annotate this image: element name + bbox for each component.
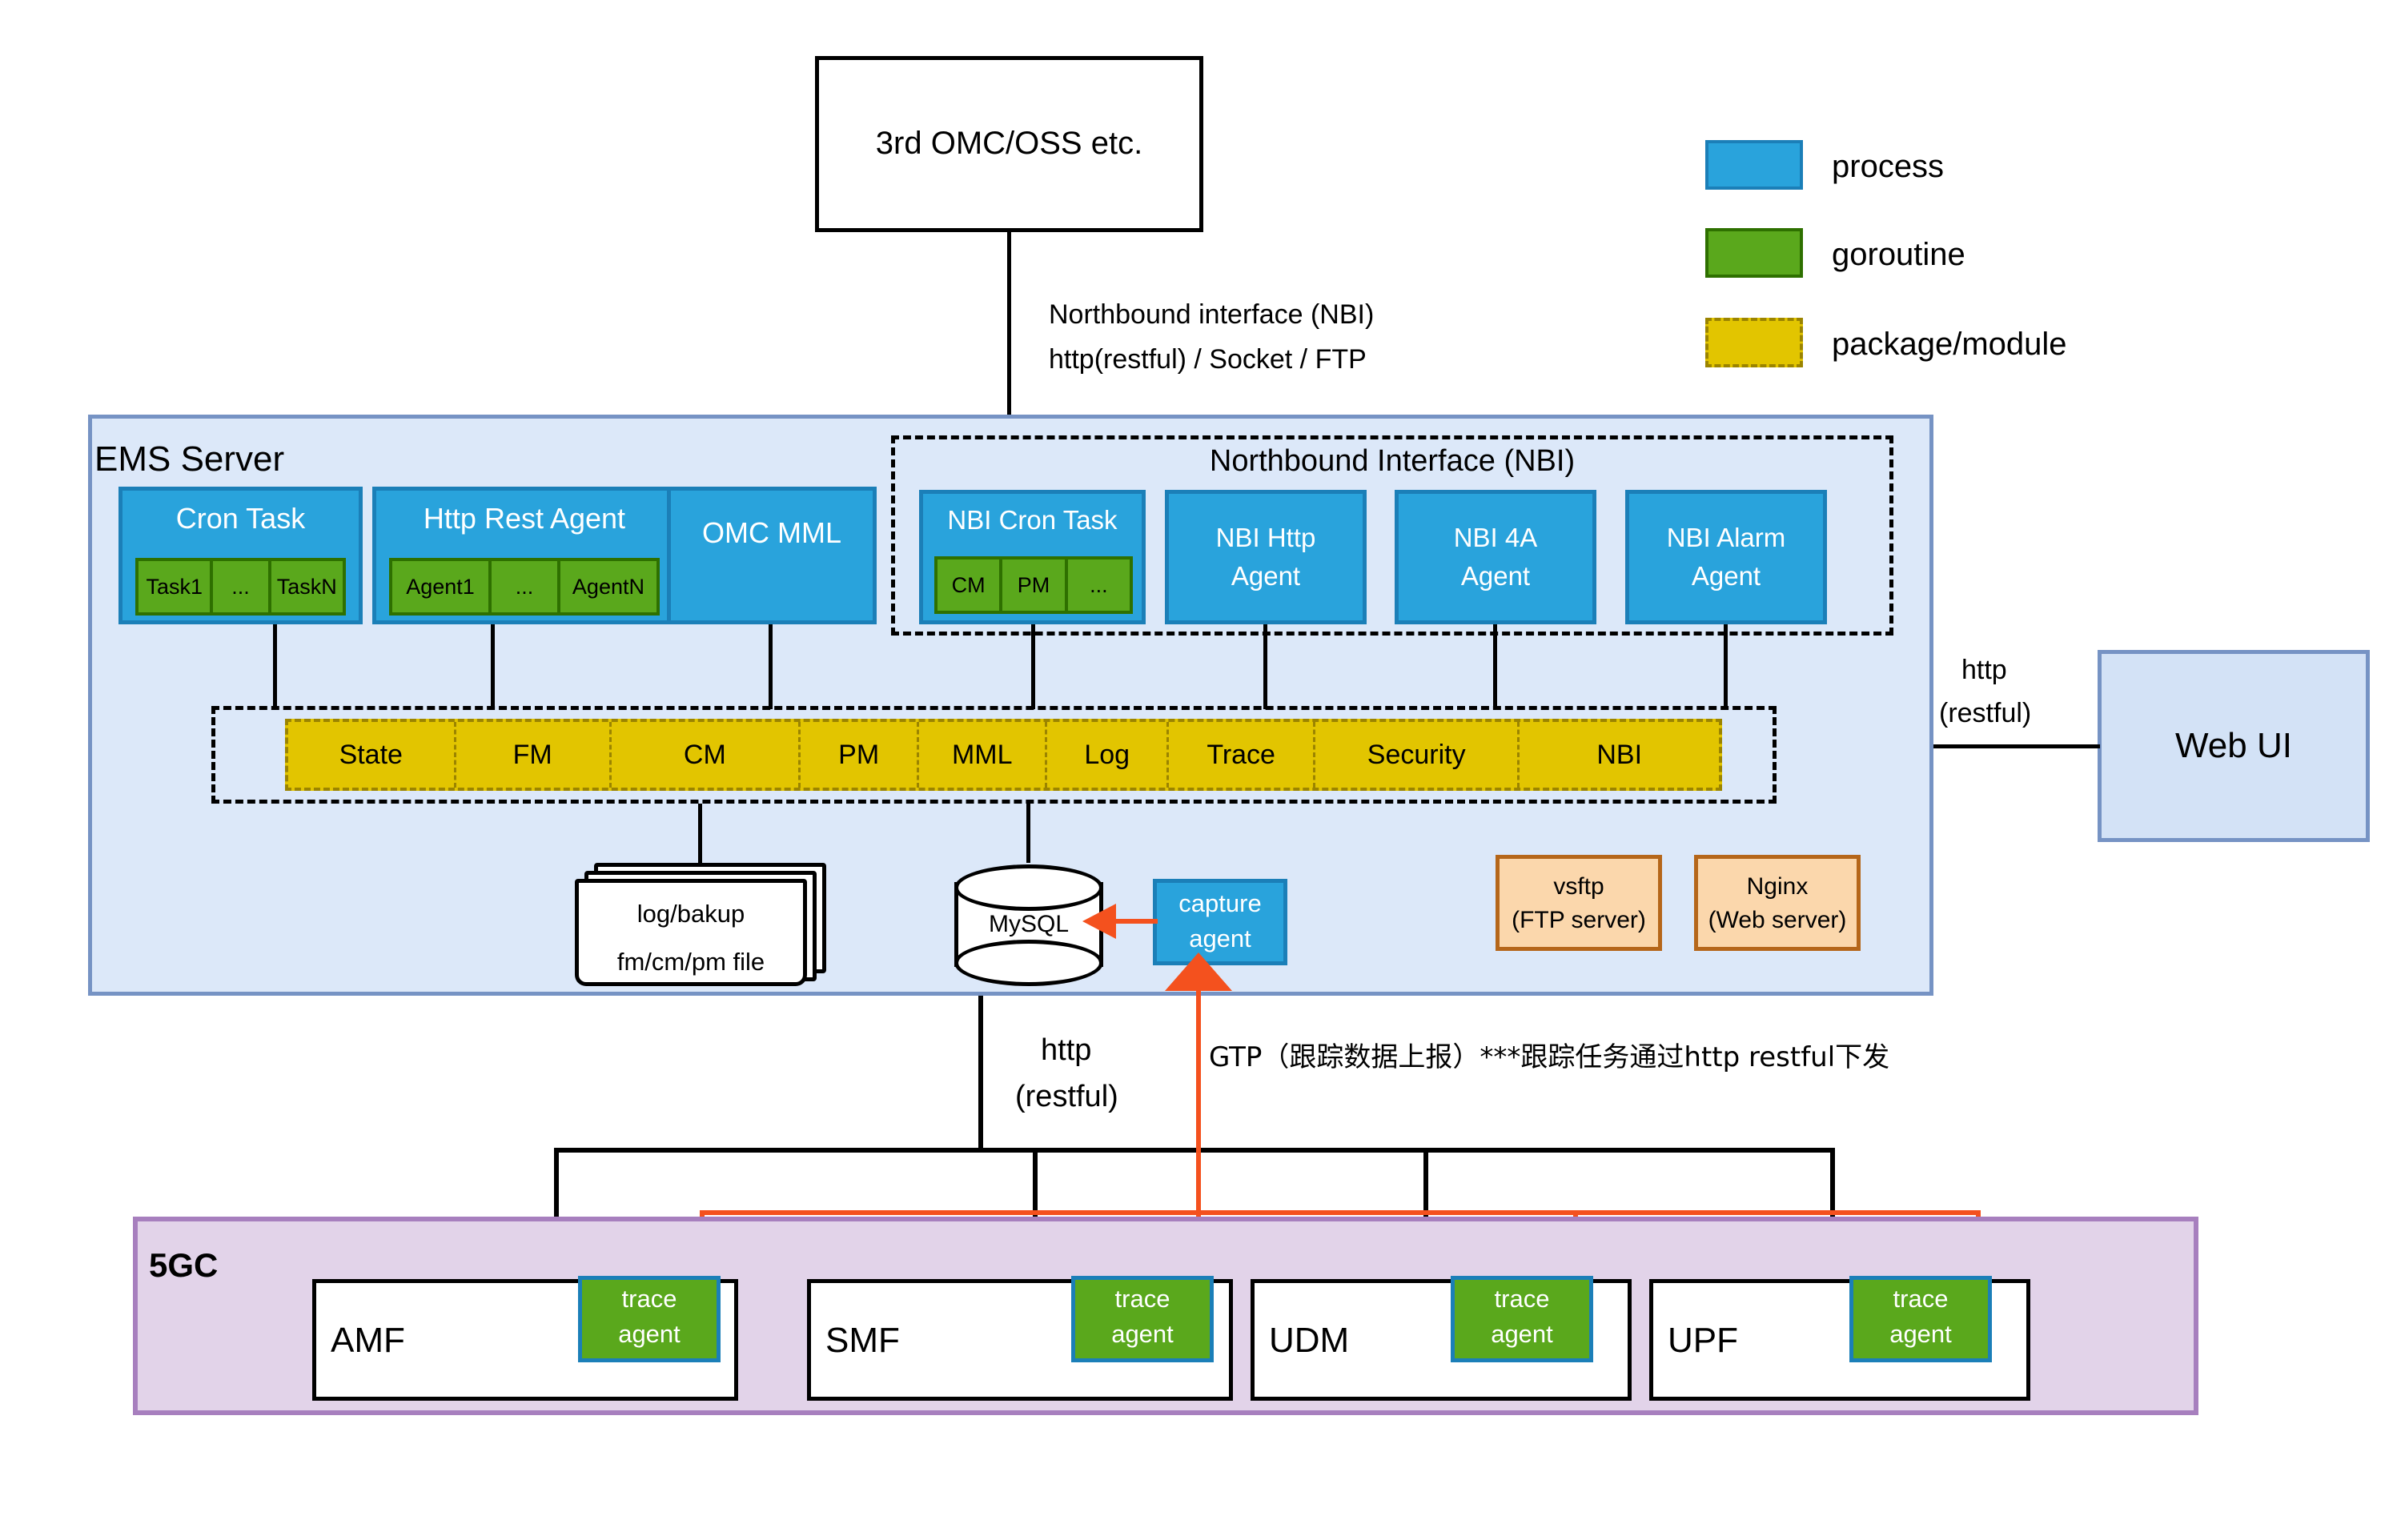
module-pm[interactable]: PM <box>801 722 919 788</box>
gc-node-smf-label: SMF <box>825 1318 900 1363</box>
edge-ems-to-web-ui <box>1933 744 2100 748</box>
goroutine-nbi-pm[interactable]: PM <box>1002 556 1067 614</box>
mysql-label: MySQL <box>954 909 1103 940</box>
legend-label-process: process <box>1832 146 1944 187</box>
goroutine-taskn[interactable]: TaskN <box>271 558 346 616</box>
edge-ems-trunk-vertical <box>978 996 983 1153</box>
module-bar: State FM CM PM MML Log Trace Security NB… <box>285 719 1722 791</box>
edge-label-nbi-line1: Northbound interface (NBI) <box>1049 298 1374 333</box>
mysql-cylinder-bottom <box>954 940 1103 986</box>
process-http-rest-agent[interactable]: Http Rest Agent Agent1 ... AgentN <box>372 487 677 624</box>
third-party-omc-oss-label: 3rd OMC/OSS etc. <box>876 123 1142 164</box>
goroutine-nbi-ellipsis[interactable]: ... <box>1068 556 1133 614</box>
server-vsftp-line2: (FTP server) <box>1500 905 1658 936</box>
arrowhead-capture-to-mysql <box>1082 904 1116 939</box>
file-store-label-line2: fm/cm/pm file <box>575 946 807 978</box>
gc-node-udm-label: UDM <box>1269 1318 1349 1363</box>
edge-label-nbi-line2: http(restful) / Socket / FTP <box>1049 343 1367 378</box>
module-mml[interactable]: MML <box>919 722 1047 788</box>
trace-agent-udm[interactable]: trace agent <box>1451 1276 1593 1362</box>
goroutine-agent1[interactable]: Agent1 <box>389 558 492 616</box>
web-ui-label: Web UI <box>2175 724 2292 768</box>
trace-agent-upf-line1: trace <box>1853 1285 1988 1313</box>
file-store-label-line1: log/bakup <box>575 898 807 930</box>
edge-gtp-vertical-to-capture <box>1196 981 1201 1213</box>
trace-agent-udm-line1: trace <box>1455 1285 1589 1313</box>
process-nbi-alarm-agent[interactable]: NBI Alarm Agent <box>1625 490 1827 624</box>
module-security[interactable]: Security <box>1315 722 1520 788</box>
edge-capture-agent-to-mysql <box>1113 919 1158 924</box>
process-nbi-http-agent[interactable]: NBI Http Agent <box>1165 490 1367 624</box>
process-cron-task-label: Cron Task <box>122 502 359 535</box>
trace-agent-upf[interactable]: trace agent <box>1849 1276 1992 1362</box>
trace-agent-amf[interactable]: trace agent <box>578 1276 721 1362</box>
process-nbi-http-agent-label: NBI Http Agent <box>1216 519 1316 596</box>
module-fm[interactable]: FM <box>456 722 612 788</box>
edge-cron-task-to-modules <box>273 624 277 709</box>
process-http-rest-agent-label: Http Rest Agent <box>376 502 673 535</box>
edge-nbi-http-agent-to-modules <box>1263 624 1267 709</box>
module-state[interactable]: State <box>288 722 456 788</box>
process-nbi-4a-agent-label: NBI 4A Agent <box>1454 519 1538 596</box>
legend: process goroutine package/module <box>1705 140 2202 380</box>
trace-agent-smf-line2: agent <box>1075 1320 1210 1349</box>
goroutine-nbi-cm[interactable]: CM <box>934 556 1002 614</box>
gc-node-upf-label: UPF <box>1668 1318 1738 1363</box>
edge-http-rest-agent-to-modules <box>491 624 495 709</box>
edge-nbi-alarm-agent-to-modules <box>1724 624 1728 709</box>
trace-agent-amf-line2: agent <box>582 1320 717 1349</box>
edge-gtp-bus-horizontal <box>700 1210 1981 1215</box>
trace-agent-udm-line2: agent <box>1455 1320 1589 1349</box>
module-log[interactable]: Log <box>1047 722 1169 788</box>
legend-swatch-process <box>1705 140 1803 190</box>
edge-label-gc-line1: http <box>1041 1031 1091 1070</box>
legend-swatch-package <box>1705 318 1803 367</box>
ems-server-title: EMS Server <box>94 437 284 482</box>
edge-omcoss-to-nbi <box>1007 232 1011 445</box>
goroutine-task-ellipsis[interactable]: ... <box>213 558 271 616</box>
mysql-cylinder-top <box>954 864 1103 911</box>
process-nbi-alarm-agent-label: NBI Alarm Agent <box>1667 519 1786 596</box>
server-vsftp[interactable]: vsftp (FTP server) <box>1496 855 1662 951</box>
edge-label-gc-line2: (restful) <box>1015 1077 1118 1117</box>
edge-modules-to-file-store <box>698 804 702 863</box>
server-nginx-line1: Nginx <box>1698 872 1857 902</box>
process-cron-task[interactable]: Cron Task Task1 ... TaskN <box>118 487 363 624</box>
gc-title: 5GC <box>149 1244 218 1287</box>
web-ui-node[interactable]: Web UI <box>2098 650 2370 842</box>
edge-label-webui-line1: http <box>1961 653 2007 688</box>
nbi-container-title: Northbound Interface (NBI) <box>891 442 1893 481</box>
edge-nbi-4a-agent-to-modules <box>1493 624 1497 709</box>
trace-agent-upf-line2: agent <box>1853 1320 1988 1349</box>
goroutine-group-cron: Task1 ... TaskN <box>135 558 346 616</box>
third-party-omc-oss-node[interactable]: 3rd OMC/OSS etc. <box>815 56 1203 232</box>
arrowhead-gtp-to-capture <box>1165 952 1232 991</box>
legend-label-goroutine: goroutine <box>1832 235 1965 275</box>
goroutine-agent-ellipsis[interactable]: ... <box>492 558 560 616</box>
server-vsftp-line1: vsftp <box>1500 872 1658 902</box>
legend-label-package: package/module <box>1832 324 2067 365</box>
process-nbi-cron-task-label: NBI Cron Task <box>923 505 1142 535</box>
module-nbi[interactable]: NBI <box>1520 722 1719 788</box>
trace-agent-amf-line1: trace <box>582 1285 717 1313</box>
file-store-stack[interactable]: log/bakup fm/cm/pm file <box>575 863 831 986</box>
edge-5gc-bus-horizontal <box>554 1148 1835 1153</box>
capture-agent-label-line2: agent <box>1157 924 1283 953</box>
edge-modules-to-mysql <box>1026 804 1030 863</box>
process-nbi-cron-task[interactable]: NBI Cron Task CM PM ... <box>919 490 1146 624</box>
module-trace[interactable]: Trace <box>1169 722 1315 788</box>
capture-agent-label-line1: capture <box>1157 889 1283 918</box>
edge-omc-mml-to-modules <box>769 624 773 709</box>
gtp-note-label: GTP（跟踪数据上报）***跟踪任务通过http restful下发 <box>1209 1041 1889 1076</box>
trace-agent-smf[interactable]: trace agent <box>1071 1276 1214 1362</box>
server-nginx-line2: (Web server) <box>1698 905 1857 936</box>
process-omc-mml[interactable]: OMC MML <box>667 487 877 624</box>
legend-swatch-goroutine <box>1705 228 1803 278</box>
goroutine-task1[interactable]: Task1 <box>135 558 213 616</box>
goroutine-group-http: Agent1 ... AgentN <box>389 558 660 616</box>
edge-label-webui-line2: (restful) <box>1939 696 2031 732</box>
process-omc-mml-label: OMC MML <box>702 516 841 550</box>
mysql-database[interactable]: MySQL <box>954 864 1103 986</box>
goroutine-agentn[interactable]: AgentN <box>560 558 660 616</box>
trace-agent-smf-line1: trace <box>1075 1285 1210 1313</box>
goroutine-group-nbi-cron: CM PM ... <box>934 556 1133 614</box>
server-nginx[interactable]: Nginx (Web server) <box>1694 855 1861 951</box>
edge-nbi-cron-task-to-modules <box>1031 624 1035 709</box>
module-cm[interactable]: CM <box>612 722 801 788</box>
gc-node-amf-label: AMF <box>331 1318 405 1363</box>
process-nbi-4a-agent[interactable]: NBI 4A Agent <box>1395 490 1596 624</box>
